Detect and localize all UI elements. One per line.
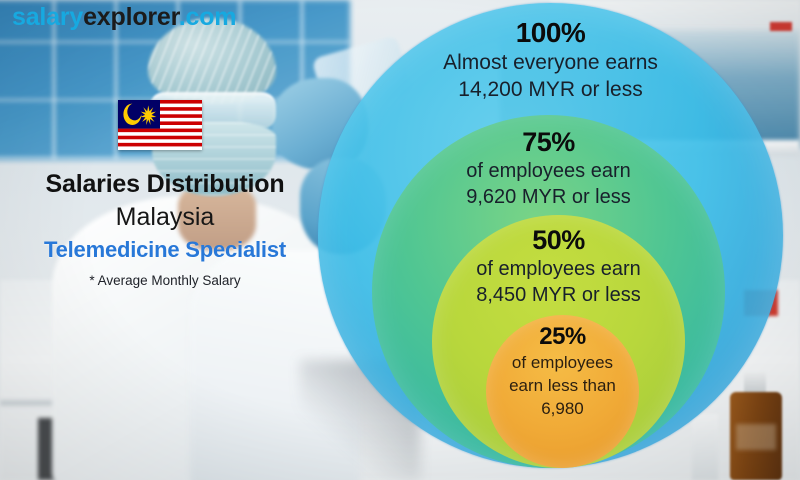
bubble-75-line-2: 9,620 MYR or less: [466, 184, 631, 210]
bubble-50-percent-label: 50%: [532, 225, 585, 256]
bubble-75-line-1: of employees earn: [466, 158, 631, 184]
bubble-100-description: Almost everyone earns 14,200 MYR or less: [443, 49, 658, 103]
bubble-100-line-2: 14,200 MYR or less: [443, 76, 658, 103]
bubble-50-description: of employees earn 8,450 MYR or less: [476, 256, 641, 308]
bubble-50-line-1: of employees earn: [476, 256, 641, 282]
bubble-75-percent-label: 75%: [522, 127, 575, 158]
bubble-25-line-1: of employees: [509, 351, 616, 374]
bubble-25-percent-label: 25%: [539, 323, 586, 351]
bubble-25-line-2: earn less than: [509, 374, 616, 397]
bubble-50-line-2: 8,450 MYR or less: [476, 282, 641, 308]
bubble-75-description: of employees earn 9,620 MYR or less: [466, 158, 631, 210]
bubble-25-percent: 25% of employees earn less than 6,980: [486, 315, 639, 468]
bubble-25-description: of employees earn less than 6,980: [509, 351, 616, 420]
bubble-100-line-1: Almost everyone earns: [443, 49, 658, 76]
bubble-25-line-3: 6,980: [509, 397, 616, 420]
bubble-100-percent-label: 100%: [516, 17, 586, 49]
percentile-bubble-chart: 100% Almost everyone earns 14,200 MYR or…: [0, 0, 800, 480]
salary-distribution-infographic: salaryexplorer.com Salaries Distribution: [0, 0, 800, 480]
